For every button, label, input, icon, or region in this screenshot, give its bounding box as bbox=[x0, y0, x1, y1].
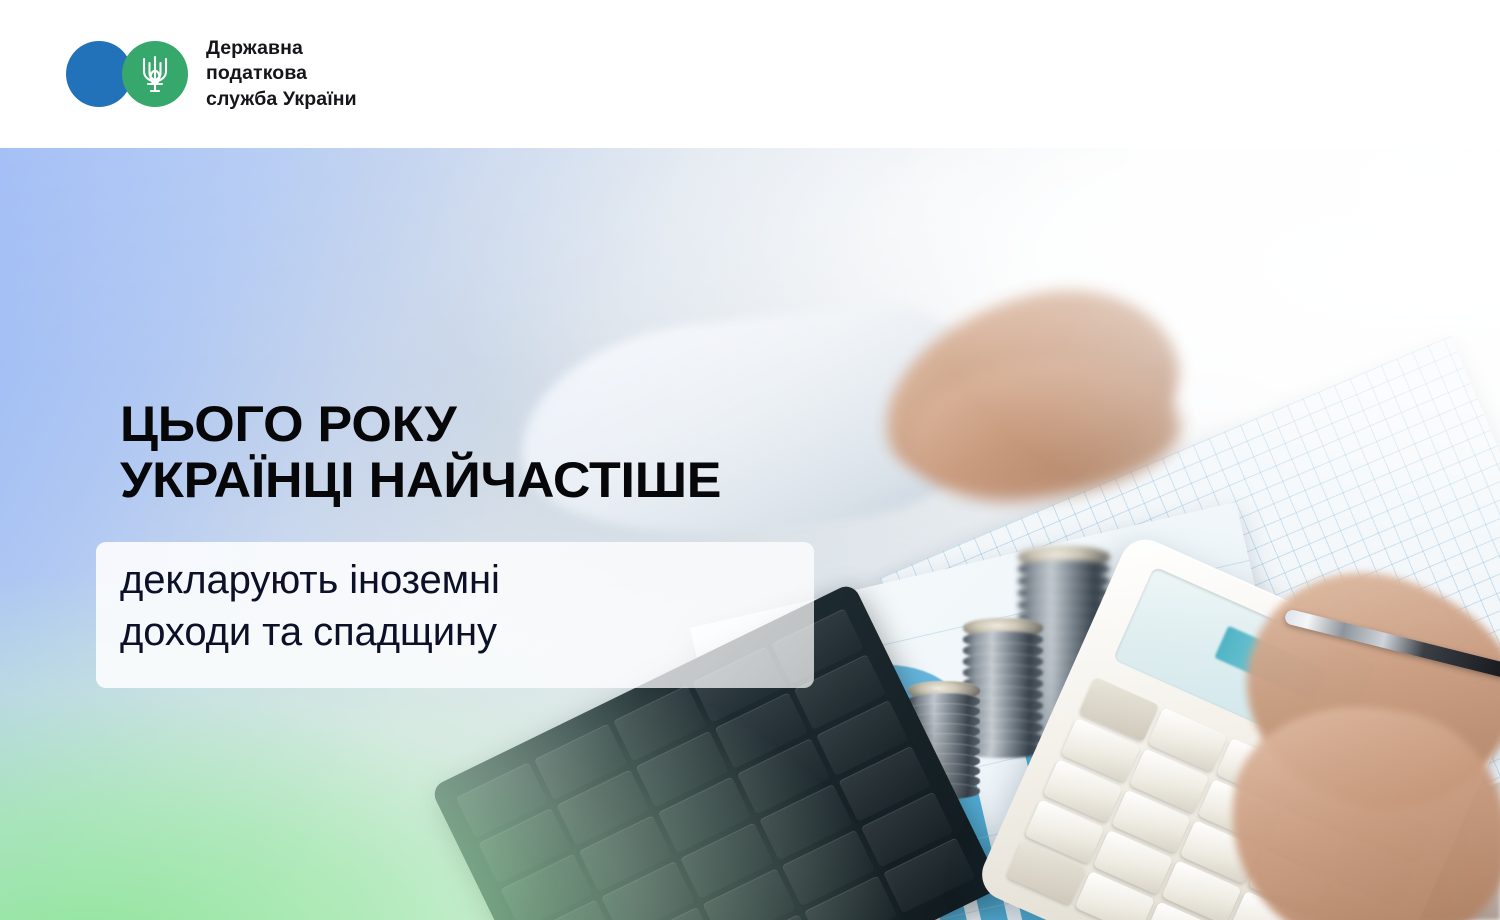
organization-name: Державна податкова служба України bbox=[206, 36, 357, 112]
banner-subtitle: декларують іноземні доходи та спадщину bbox=[120, 554, 820, 658]
site-header: Державна податкова служба України bbox=[0, 0, 1500, 148]
organization-logo[interactable]: Державна податкова служба України bbox=[66, 36, 357, 112]
logo-marks bbox=[66, 41, 188, 107]
banner-canvas: ЦЬОГО РОКУ УКРАЇНЦІ НАЙЧАСТІШЕ декларуют… bbox=[0, 0, 1500, 920]
banner-headline: ЦЬОГО РОКУ УКРАЇНЦІ НАЙЧАСТІШЕ bbox=[120, 396, 721, 508]
ukraine-trident-icon bbox=[136, 53, 174, 95]
banner-text-zone: ЦЬОГО РОКУ УКРАЇНЦІ НАЙЧАСТІШЕ декларуют… bbox=[0, 148, 1500, 920]
